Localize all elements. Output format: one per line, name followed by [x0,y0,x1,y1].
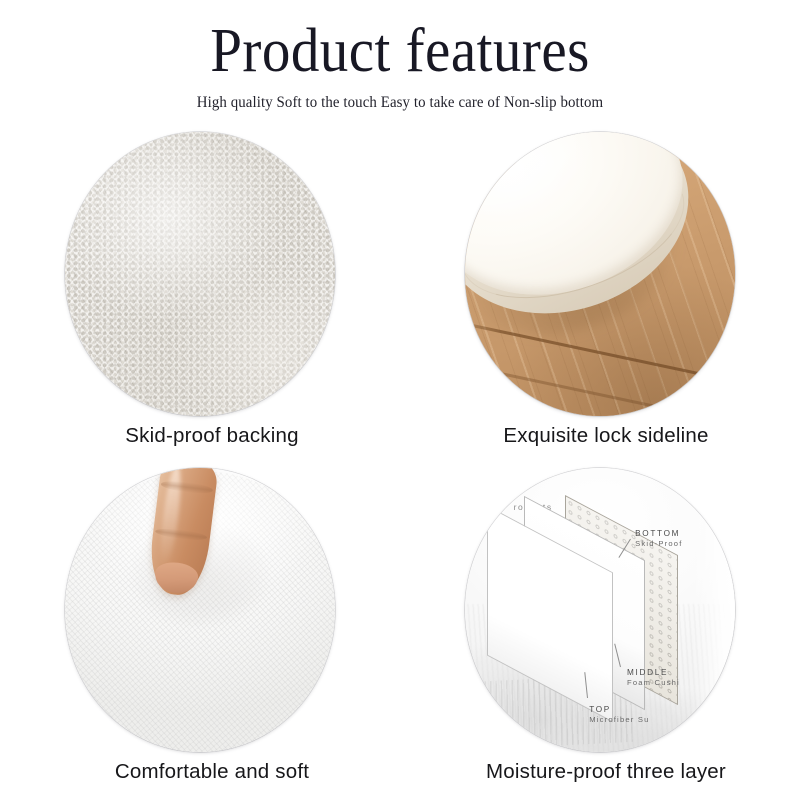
layer-label-top: TOP Microfiber Su [589,704,649,725]
feature-cell-skid-proof-backing: Skid-proof backing [0,128,400,464]
moisture-proof-three-layer-photo: roducts BOTTOM Skid-Proof [465,468,735,752]
feature-caption: Comfortable and soft [0,760,412,784]
feature-cell-exquisite-lock-sideline: Exquisite lock sideline [400,128,800,464]
wood-floor-scene [465,132,735,416]
feature-caption: Exquisite lock sideline [400,424,800,448]
feature-image-wrap: roducts BOTTOM Skid-Proof [465,468,735,752]
header: Product features High quality Soft to th… [0,0,800,112]
layer-label-bottom-sub: Skid-Proof [635,539,682,549]
product-features-page: Product features High quality Soft to th… [0,0,800,800]
layer-label-middle-name: MIDDLE [627,667,680,678]
feature-image-wrap [65,468,335,752]
layer-label-bottom-name: BOTTOM [635,528,682,539]
feature-cell-comfortable-and-soft: Comfortable and soft [0,464,400,800]
plush-mat-scene [65,468,335,752]
comfortable-and-soft-photo [65,468,335,752]
page-title: Product features [32,0,768,85]
page-subtitle: High quality Soft to the touch Easy to t… [16,85,784,112]
layer-label-bottom: BOTTOM Skid-Proof [635,528,682,549]
feature-image-wrap [465,132,735,416]
feature-caption: Moisture-proof three layer [400,760,800,784]
layer-label-middle-sub: Foam Cushi [627,678,680,688]
layer-diagram-scene: roducts BOTTOM Skid-Proof [465,468,735,752]
exquisite-lock-sideline-photo [465,132,735,416]
layer-label-top-sub: Microfiber Su [589,715,649,725]
layer-label-middle: MIDDLE Foam Cushi [627,667,680,688]
skid-proof-backing-photo [65,132,335,416]
feature-grid: Skid-proof backing [0,128,800,800]
layer-label-top-name: TOP [589,704,649,715]
photo-sheen [65,132,335,416]
feature-cell-moisture-proof-three-layer: roducts BOTTOM Skid-Proof [400,464,800,800]
feature-image-wrap [65,132,335,416]
feature-caption: Skid-proof backing [0,424,412,448]
